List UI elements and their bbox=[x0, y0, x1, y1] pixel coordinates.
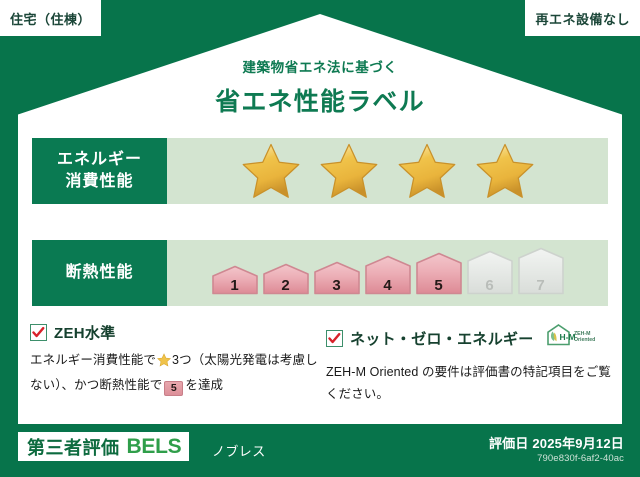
insulation-level-house: 7 bbox=[517, 247, 565, 300]
net-zero-energy-header: ネット・ゼロ・エネルギー H-M ZEH-M Oriented bbox=[326, 322, 614, 355]
star-icon bbox=[240, 141, 302, 201]
svg-text:Oriented: Oriented bbox=[574, 337, 595, 343]
net-zero-energy-description: ZEH-M Oriented の要件は評価書の特記項目をご覧ください。 bbox=[326, 362, 614, 406]
insulation-level-house: 6 bbox=[466, 250, 514, 300]
insulation-level-number: 7 bbox=[517, 277, 565, 294]
label-subtitle: 建築物省エネ法に基づく bbox=[0, 56, 640, 76]
insulation-level-number: 6 bbox=[466, 277, 514, 294]
energy-performance-row: エネルギー 消費性能 bbox=[32, 138, 608, 204]
energy-performance-label: エネルギー 消費性能 bbox=[32, 138, 167, 204]
insulation-rating-scale: 1234567 bbox=[167, 240, 608, 306]
evaluation-date: 評価日 2025年9月12日 bbox=[489, 433, 624, 452]
insulation-level-house: 2 bbox=[262, 263, 310, 300]
star-icon bbox=[396, 141, 458, 201]
renewable-energy-tag: 再エネ設備なし bbox=[525, 0, 640, 36]
insulation-level-number: 2 bbox=[262, 277, 310, 294]
zeh-desc-pre: エネルギー消費性能で bbox=[30, 353, 156, 367]
evaluation-date-value: 2025年9月12日 bbox=[532, 436, 624, 451]
star-rating bbox=[240, 141, 536, 201]
insulation-level-number: 1 bbox=[211, 277, 259, 294]
energy-performance-label: 住宅（住棟） 再エネ設備なし 建築物省エネ法に基づく 省エネ性能ラベル エネルギ… bbox=[0, 0, 640, 477]
insulation-label-text: 断熱性能 bbox=[65, 262, 133, 284]
energy-rating-stars bbox=[167, 138, 608, 204]
owner-name: ノブレス bbox=[212, 441, 266, 460]
insulation-level-house: 5 bbox=[415, 252, 463, 300]
insulation-performance-row: 断熱性能 1234567 bbox=[32, 240, 608, 306]
energy-label-line2: 消費性能 bbox=[65, 171, 133, 193]
insulation-performance-label: 断熱性能 bbox=[32, 240, 167, 306]
insulation-level-house: 1 bbox=[211, 265, 259, 300]
inline-star-icon bbox=[157, 356, 171, 370]
zeh-standard-description: エネルギー消費性能で3つ（太陽光発電は考慮しない）、かつ断熱性能で5を達成 bbox=[30, 350, 318, 397]
checkbox-checked-icon bbox=[30, 324, 47, 341]
bels-certification-plate: 第三者評価 BELS bbox=[18, 432, 189, 461]
insulation-level-number: 4 bbox=[364, 277, 412, 294]
building-type-tag: 住宅（住棟） bbox=[0, 0, 101, 36]
zeh-standard-header: ZEH水準 bbox=[30, 322, 318, 343]
energy-label-line1: エネルギー bbox=[57, 149, 142, 171]
net-zero-energy-title: ネット・ゼロ・エネルギー bbox=[350, 328, 534, 349]
title-block: 建築物省エネ法に基づく 省エネ性能ラベル bbox=[0, 56, 640, 118]
evaluation-date-label: 評価日 bbox=[489, 436, 529, 451]
insulation-level-house: 4 bbox=[364, 255, 412, 300]
zeh-m-oriented-logo-icon: H-M ZEH-M Oriented bbox=[545, 322, 601, 355]
bels-logo-text: BELS bbox=[127, 435, 182, 459]
star-icon bbox=[474, 141, 536, 201]
evaluation-id: 790e830f-6af2-40ac bbox=[537, 453, 624, 464]
insulation-level-number: 5 bbox=[415, 277, 463, 294]
label-footer: 第三者評価 BELS ノブレス 評価日 2025年9月12日 790e830f-… bbox=[0, 424, 640, 477]
net-zero-energy-panel: ネット・ゼロ・エネルギー H-M ZEH-M Oriented ZEH-M Or… bbox=[326, 322, 614, 406]
house-level-scale: 1234567 bbox=[211, 247, 565, 300]
zeh-standard-title: ZEH水準 bbox=[54, 322, 116, 343]
inline-level-badge: 5 bbox=[164, 381, 183, 396]
zeh-desc-post: を達成 bbox=[185, 378, 223, 392]
third-party-evaluation-text: 第三者評価 bbox=[27, 434, 120, 460]
insulation-level-number: 3 bbox=[313, 277, 361, 294]
star-icon bbox=[318, 141, 380, 201]
page-title: 省エネ性能ラベル bbox=[0, 82, 640, 118]
checkbox-checked-icon bbox=[326, 330, 343, 347]
insulation-level-house: 3 bbox=[313, 261, 361, 300]
zeh-standard-panel: ZEH水準 エネルギー消費性能で3つ（太陽光発電は考慮しない）、かつ断熱性能で5… bbox=[30, 322, 318, 397]
